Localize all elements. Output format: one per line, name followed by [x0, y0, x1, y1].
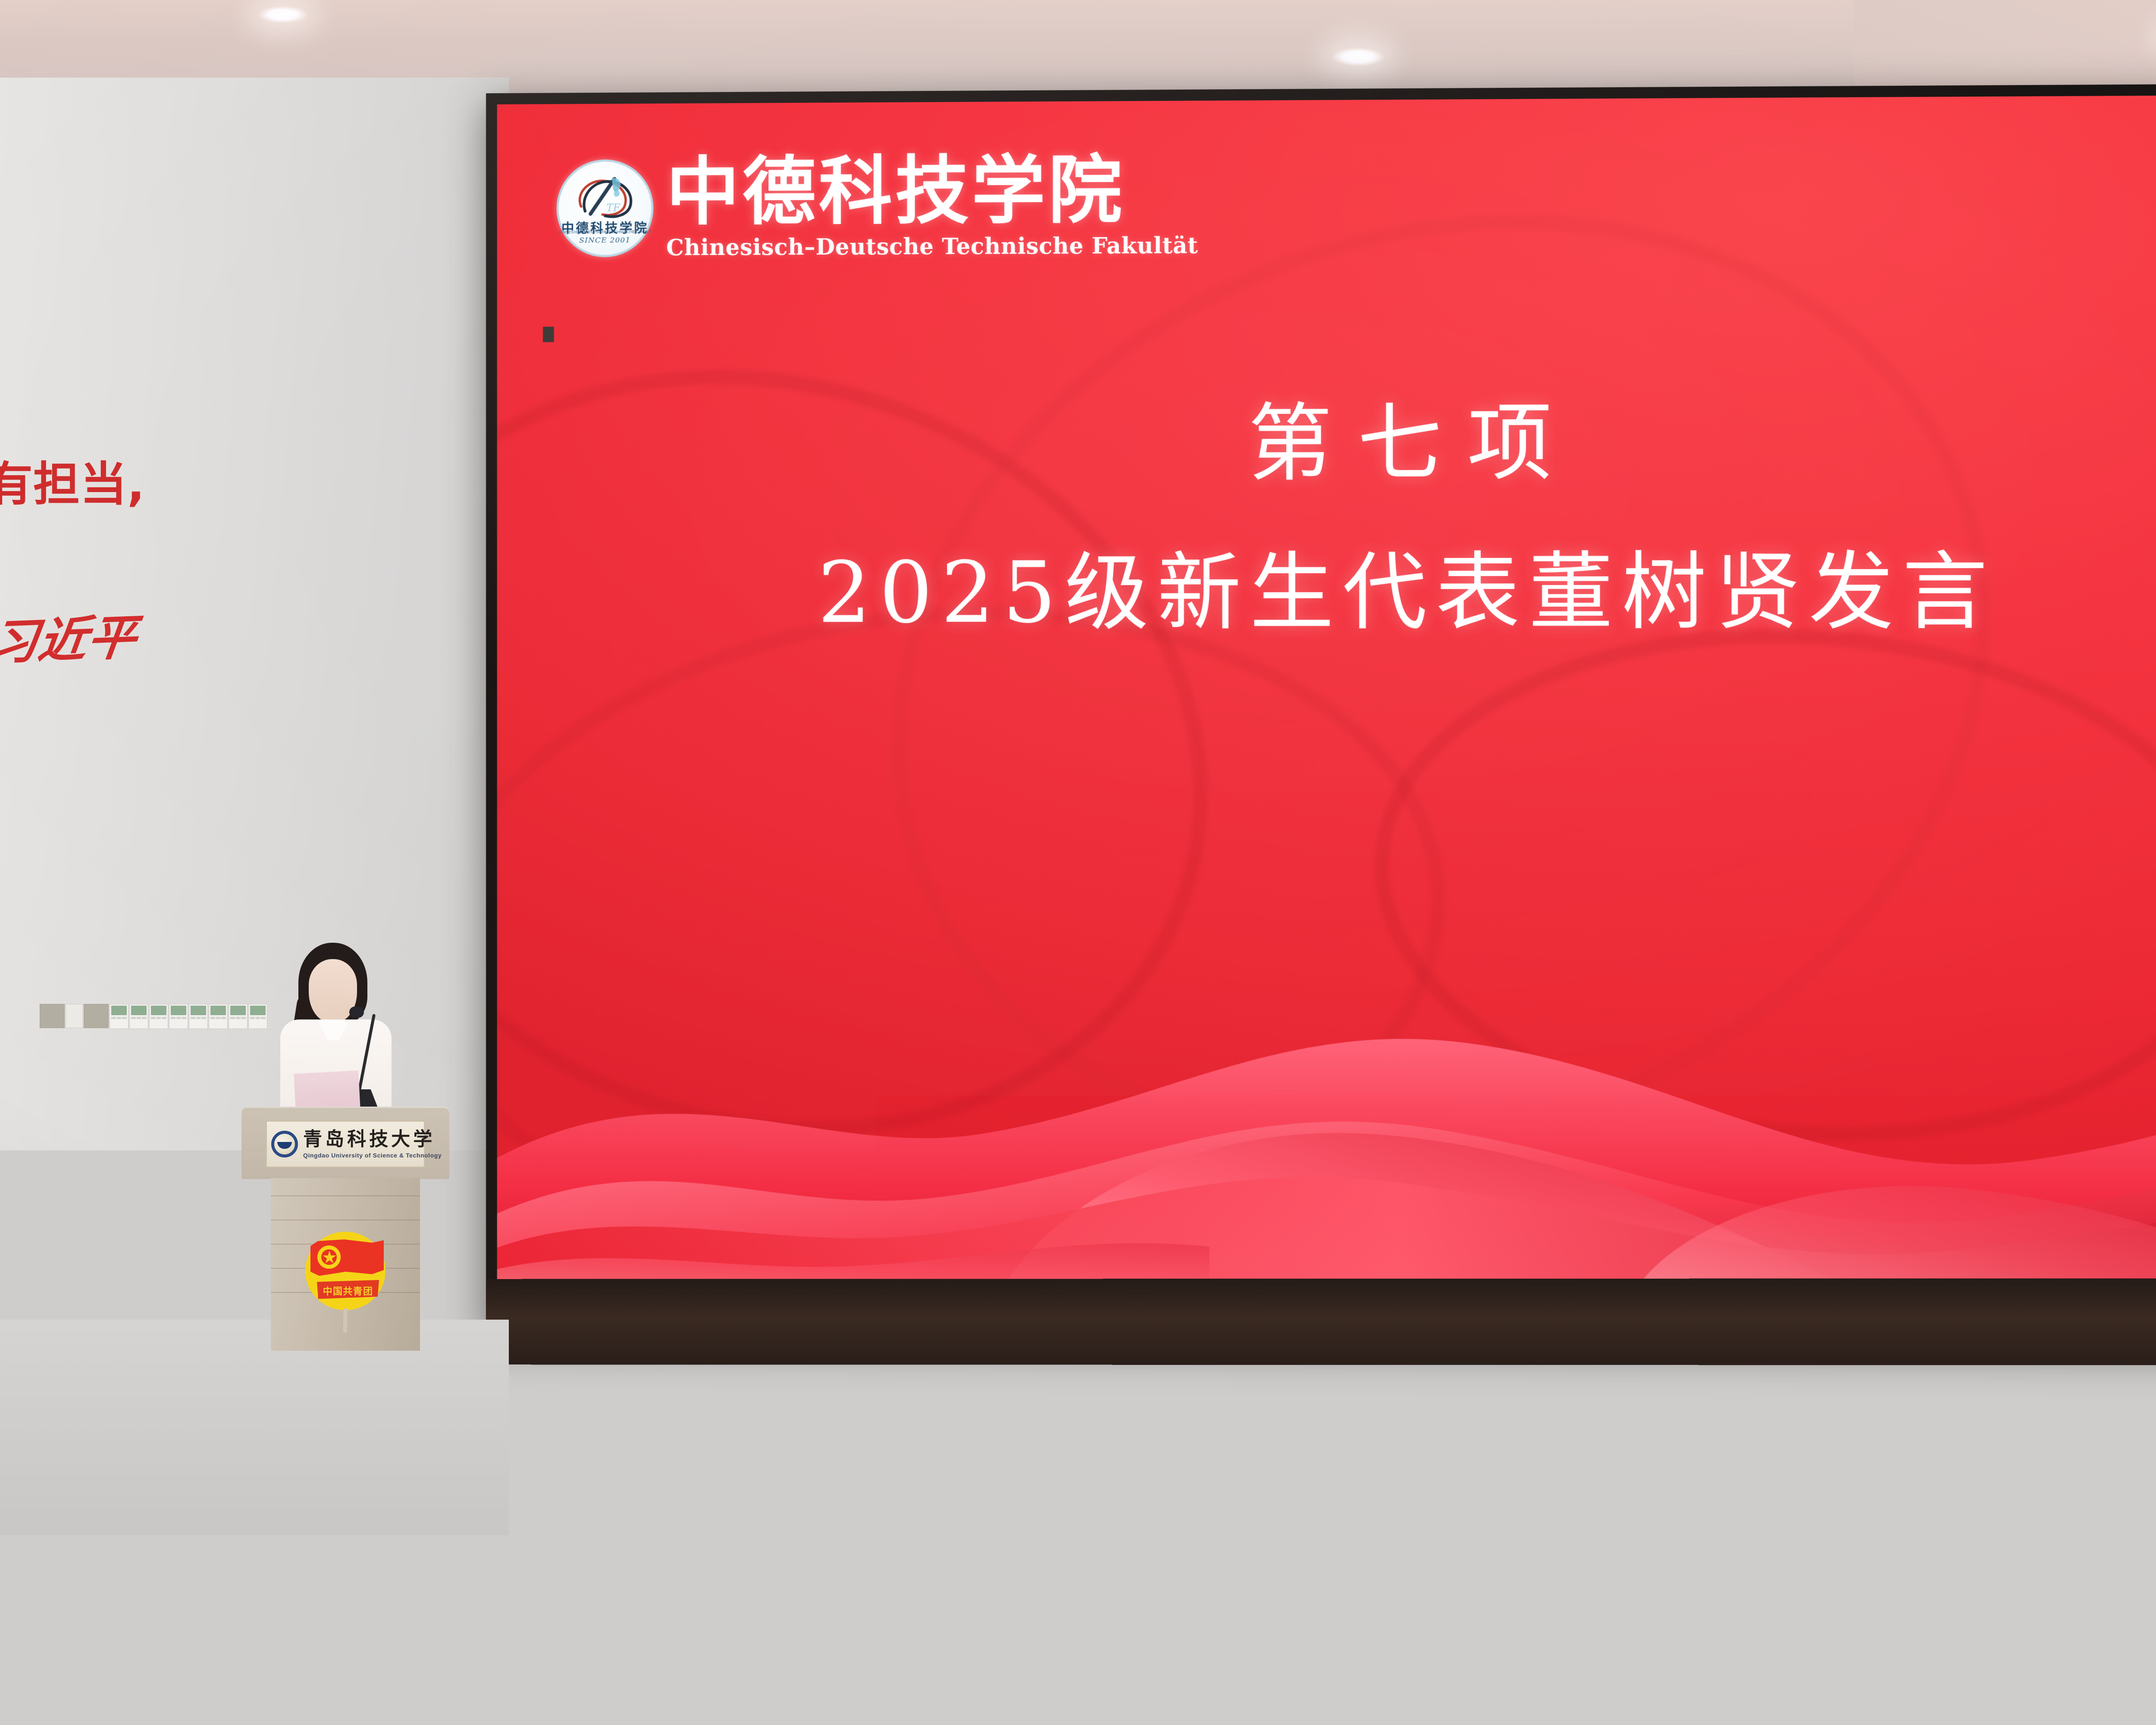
lcd-display-icon	[131, 1006, 147, 1015]
audience-head	[1846, 1388, 1977, 1534]
audience-head	[819, 1194, 883, 1264]
led-screen: TF 中德科技学院 CHINESISCH-DEUTSCHE TECHNISCHE…	[497, 95, 2156, 1295]
audience-head	[129, 1406, 254, 1544]
audience-head	[448, 1190, 517, 1249]
lcd-display-icon	[250, 1006, 266, 1015]
seat[interactable]	[359, 1207, 441, 1281]
lcd-display-icon	[230, 1006, 246, 1015]
lcd-display-icon	[171, 1006, 186, 1015]
headline-line-2: 2025级新生代表董树贤发言	[497, 545, 2156, 640]
audience-head	[0, 1393, 112, 1535]
audience-head	[285, 1389, 416, 1534]
emblem-since: SINCE 2001	[558, 236, 651, 245]
light-switch-6[interactable]	[209, 1004, 228, 1029]
institution-name-cn: 中德科技学院	[666, 152, 1198, 229]
lcd-display-icon	[151, 1006, 166, 1015]
ceiling-downlight-1	[1332, 47, 1384, 66]
audience-head	[1716, 1190, 1781, 1257]
podium-university-name-cn: 青岛科技大学	[303, 1130, 420, 1149]
audience-head	[755, 1405, 880, 1544]
speaker-at-podium	[276, 943, 405, 1124]
audience-head	[198, 1190, 263, 1249]
audience-head	[379, 1270, 460, 1361]
audience-head	[1087, 1190, 1150, 1258]
led-screen-bezel: TF 中德科技学院 CHINESISCH-DEUTSCHE TECHNISCHE…	[486, 83, 2156, 1344]
svg-text:TF: TF	[606, 201, 620, 213]
audience-head	[1863, 1190, 1929, 1251]
audience-head	[1561, 1190, 1629, 1249]
audience-head	[1406, 1591, 1577, 1725]
lcd-display-icon	[210, 1006, 226, 1015]
audience-head	[1445, 1272, 1524, 1362]
light-switch-1[interactable]	[110, 1004, 128, 1029]
auditorium-scene: 领、有担当, 望。 ——习近平	[0, 0, 2156, 1725]
microphone-head-icon	[349, 1007, 364, 1018]
podium-nameplate: 青岛科技大学 Qingdao University of Science & T…	[266, 1120, 425, 1168]
audience-head	[578, 1190, 642, 1256]
audience-head	[108, 1190, 168, 1255]
audience-head	[785, 1578, 961, 1725]
audience-head	[2001, 1406, 2127, 1545]
audience-head	[129, 1273, 208, 1363]
audience-head	[1263, 1190, 1333, 1247]
audience-head	[595, 1388, 728, 1534]
audience-head	[440, 1408, 564, 1546]
audience-head	[578, 1591, 749, 1725]
institution-name-de: Chinesisch–Deutsche Technische Fakultät	[666, 232, 1198, 261]
lcd-display-icon	[111, 1006, 127, 1015]
monogram-d-icon: TF	[572, 172, 639, 221]
university-seal-icon	[271, 1131, 298, 1157]
blank-plate-2-icon	[66, 1004, 83, 1028]
audience-head	[992, 1593, 1163, 1725]
blank-plate-icon	[40, 1004, 65, 1028]
podium-university-name-en: Qingdao University of Science & Technolo…	[303, 1152, 420, 1159]
audience-head	[164, 1587, 336, 1725]
audience-head	[910, 1390, 1040, 1534]
audience-head	[1712, 1270, 1793, 1361]
audience-head	[949, 1190, 1013, 1253]
headline-line-1: 第七项	[497, 395, 2156, 492]
podium-top: 青岛科技大学 Qingdao University of Science & T…	[241, 1107, 449, 1179]
audience-head	[1220, 1387, 1354, 1534]
audience-area	[0, 1190, 2156, 1725]
audience-head	[1173, 1269, 1254, 1360]
ceiling-downlight-3	[259, 6, 307, 23]
wall-quote-signature: ——习近平	[0, 590, 343, 677]
lcd-display-icon	[191, 1006, 206, 1015]
light-switch-5[interactable]	[189, 1004, 208, 1029]
audience-head	[1820, 1592, 1991, 1725]
audience-head	[2018, 1190, 2082, 1258]
light-switch-7[interactable]	[229, 1004, 248, 1029]
audience-head	[1690, 1408, 1815, 1546]
audience-head	[906, 1271, 986, 1362]
wall-control-panels[interactable]	[40, 1004, 267, 1029]
light-switch-4[interactable]	[169, 1004, 188, 1029]
blank-plate-3-icon	[84, 1004, 109, 1028]
wall-quote: 领、有担当, 望。 ——习近平	[0, 448, 336, 677]
audience-head	[707, 1190, 774, 1250]
audience-head	[1380, 1406, 1506, 1545]
audience-head	[1065, 1408, 1189, 1546]
wall-quote-line-1: 领、有担当,	[0, 448, 336, 521]
wall-quote-line-2: 望。	[0, 521, 336, 593]
emblem-name-de: CHINESISCH-DEUTSCHE TECHNISCHE FAKULTÄT	[558, 229, 651, 234]
slide-headline: 第七项 2025级新生代表董树贤发言	[497, 395, 2156, 640]
institution-emblem-icon: TF 中德科技学院 CHINESISCH-DEUTSCHE TECHNISCHE…	[557, 159, 654, 257]
screen-dead-pixel-block	[543, 327, 554, 342]
audience-head	[642, 1268, 724, 1359]
audience-head	[1984, 1270, 2064, 1361]
light-switch-8[interactable]	[248, 1004, 267, 1029]
institution-logo-lockup: TF 中德科技学院 CHINESISCH-DEUTSCHE TECHNISCHE…	[557, 152, 1198, 261]
audience-head	[1535, 1389, 1666, 1534]
light-switch-2[interactable]	[129, 1004, 148, 1029]
audience-head	[1414, 1190, 1480, 1256]
light-switch-3[interactable]	[149, 1004, 168, 1029]
audience-head	[26, 1190, 91, 1255]
